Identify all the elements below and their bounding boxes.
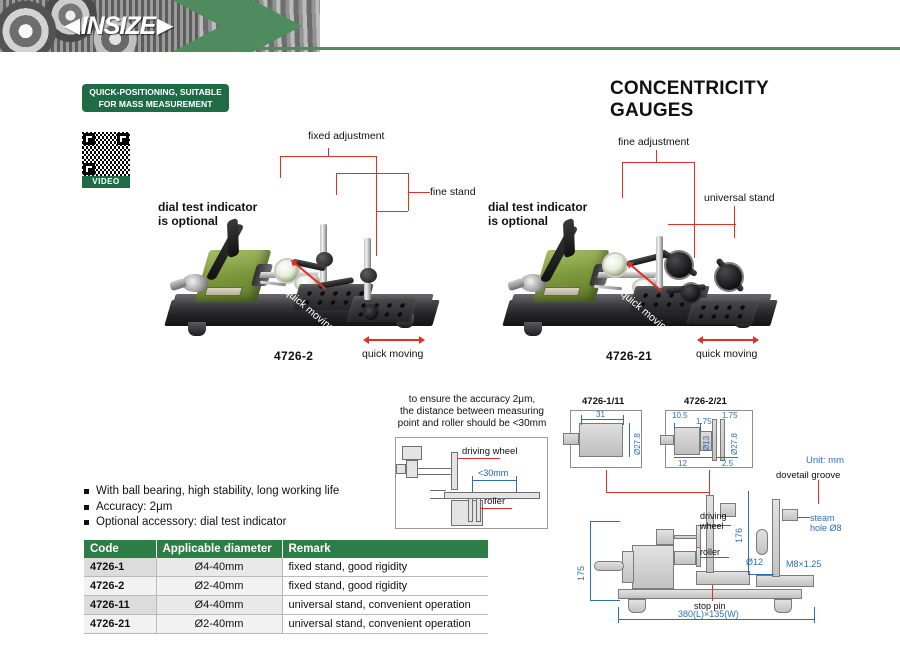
feature-item: With ball bearing, high stability, long … [84,484,414,500]
diag-dim-line-30mm [472,480,516,481]
dim-value-f: 12 [678,459,687,468]
md-label-driving-wheel-l2: wheel [700,521,727,531]
cell-remark: fixed stand, good rigidity [282,558,488,577]
machine-illustration-left [168,228,448,343]
feature-badge-line2: FOR MASS MEASUREMENT [89,98,222,110]
product-model-left: 4726-2 [274,349,313,363]
md-spindle-top [656,529,674,545]
accuracy-note-line2: the distance between measuring [392,406,552,418]
qr-eye-top-left [83,133,95,145]
unit-label: Unit: mm [806,455,844,466]
quick-moving-label-flat: quick moving [696,348,757,360]
diag-label-driving-wheel: driving wheel [462,446,517,457]
diag-roller-1 [468,498,473,522]
table-row: 4726-21 Ø2-40mm universal stand, conveni… [84,615,488,634]
qr-code-icon[interactable] [82,132,130,176]
cell-code: 4726-11 [84,596,156,615]
product-model-right: 4726-21 [606,349,652,363]
slide-block-2 [346,296,417,322]
cell-remark: universal stand, convenient operation [282,596,488,615]
callout-leader-v1 [328,148,329,156]
dim-value-a: 10.5 [672,411,688,420]
md-label-stop-pin: stop pin [694,601,726,611]
dim-tick-w1b [623,415,624,425]
clamp-arm-secondary [563,218,575,259]
slide-block-2 [686,298,759,324]
md-thread: M8×1.25 [786,559,821,569]
md-diameter: Ø12 [746,557,763,567]
product-photo-4726-2: dial test indicator is optional fixed ad… [140,120,500,370]
diag-spindle-body [406,460,418,478]
dim-value-e: Ø27.8 [730,433,739,455]
part-shaft-2 [660,435,674,445]
dim-drawing-1: 31 Ø27.8 [570,410,642,468]
cell-code: 4726-2 [84,577,156,596]
md-lead-steam-hole [798,517,810,518]
machine-dimension-drawing: 175 176 Ø12 M8×1.25 380(L)×135(W) drivin… [570,495,900,640]
cell-code: 4726-1 [84,558,156,577]
callout-leader-h3 [336,173,408,174]
callout-leader-h1 [280,156,376,157]
md-roller-block [674,551,696,565]
cell-code: 4726-21 [84,615,156,634]
cell-diameter: Ø4-40mm [156,596,282,615]
part-disc-2b [720,419,725,461]
md-foot-left [628,599,646,613]
table-row: 4726-2 Ø2-40mm fixed stand, good rigidit… [84,577,488,596]
qr-eye-top-right [117,133,129,145]
diag-dim-tick-left [472,476,473,492]
accuracy-note-line3: point and roller should be <30mm [392,418,552,430]
dim-tick-w1a [581,415,582,425]
md-center-slide [696,571,750,585]
diag-dim-tick-right [516,476,517,492]
callout-fixed-adjustment: fixed adjustment [308,130,384,142]
callout-leader-rh2 [668,224,736,225]
feature-badge: QUICK-POSITIONING, SUITABLE FOR MASS MEA… [82,84,229,112]
quick-moving-label-flat: quick moving [362,348,423,360]
md-base-plate [618,589,802,599]
headstock-nameplate [542,287,581,296]
md-headstock [632,545,674,589]
universal-knob-1 [666,252,692,278]
clamp-knob [364,306,378,320]
video-qr-block[interactable]: VIDEO [82,132,130,188]
md-dim-tick-175b [590,600,620,601]
md-height-left: 175 [576,566,586,581]
dim-value-dia-1: Ø27.8 [633,433,642,455]
md-label-roller: roller [700,547,720,557]
video-label: VIDEO [82,176,130,188]
table-row: 4726-11 Ø4-40mm universal stand, conveni… [84,596,488,615]
callout-leader-rv2 [622,162,623,198]
diag-roller-2 [476,498,481,522]
machine-foot-left [188,322,206,336]
dim-connector-h [606,492,710,493]
md-handle [594,561,624,571]
page-title: CONCENTRICITY GAUGES [610,78,850,122]
diag-lead-roller [480,508,512,509]
logo-left-arrow-icon: ◀ [64,16,78,36]
headstock-nameplate [204,287,243,296]
dim-drawing-2: 10.5 1.75 1.75 Ø13 Ø27.8 12 2.5 [665,410,753,468]
machine-illustration-right [506,228,786,343]
header-divider-rule [245,47,900,50]
callout-dial-indicator-left: dial test indicator is optional [158,200,257,228]
part-shaft-1 [563,433,579,445]
universal-knob-3 [682,284,700,302]
callout-leader-v2 [280,156,281,178]
diag-driving-wheel [451,452,458,490]
dim-connector-1 [606,470,607,492]
md-dim-tick-176 [748,574,774,575]
diag-spindle-left [396,464,406,474]
spindle-lever [507,278,525,292]
dim-value-width-1: 31 [596,410,605,419]
dim-line-width-1 [581,419,623,420]
feature-badge-line1: QUICK-POSITIONING, SUITABLE [89,86,222,98]
part-body-1 [579,423,623,457]
diag-label-roller: roller [484,496,505,507]
md-label-driving-wheel-l1: driving [700,511,727,521]
dim-tick-2b [700,423,701,431]
dim-line-dia-1 [629,423,630,457]
md-arm-right [782,509,798,521]
md-label-steam-hole-l2: hole Ø8 [810,523,842,533]
dim-value-b: 1.75 [696,417,712,426]
dim-drawing-title-1: 4726-1/11 [582,396,624,407]
callout-leader-v5 [336,173,337,195]
part-body-2 [674,427,700,455]
table-header-row: Code Applicable diameter Remark [84,540,488,558]
dim-value-g: 2.5 [722,459,733,468]
md-disc-right [756,529,768,555]
quick-moving-arrow-flat [368,339,420,341]
dim-line-2g [716,457,738,458]
features-list: With ball bearing, high stability, long … [84,484,414,531]
md-foot-right [774,599,792,613]
diag-lead-driving-wheel [458,458,500,459]
quick-moving-arrow-flat [702,339,754,341]
table-row: 4726-1 Ø4-40mm fixed stand, good rigidit… [84,558,488,577]
dim-tick-2a [674,423,675,429]
insize-logo: ◀ INSIZE ▶ [48,12,188,40]
cell-diameter: Ø2-40mm [156,577,282,596]
diag-label-30mm: <30mm [478,468,508,478]
callout-leader-h2 [408,192,430,193]
md-right-slide [756,575,814,587]
diag-tip-line2 [430,498,446,499]
part-disc-2a [712,419,717,461]
specification-table: Code Applicable diameter Remark 4726-1 Ø… [84,540,488,634]
md-dim-line-overall [618,619,814,620]
logo-right-arrow-icon: ▶ [157,16,171,36]
dim-line-2f [674,457,712,458]
stand-knob-2 [360,268,377,283]
md-dim-tick-175a [590,521,620,522]
product-photo-4726-21: dial test indicator is optional fine adj… [478,120,838,370]
clamp-arm-secondary [227,218,239,259]
callout-universal-stand: universal stand [704,192,775,204]
md-label-steam-hole-l1: steam [810,513,842,523]
dim-value-c: 1.75 [722,411,738,420]
qr-eye-bottom-left [83,163,95,175]
cell-remark: fixed stand, good rigidity [282,577,488,596]
universal-stand-post [656,236,663,288]
dovetail-groove-label: dovetail groove [776,470,840,481]
callout-fine-stand: fine stand [430,186,476,198]
dim-value-d: Ø13 [702,436,711,451]
diag-shaft-line-bottom [418,474,454,475]
diag-spindle-head [402,446,422,460]
callout-leader-v4 [408,173,409,211]
page-header: ◀ INSIZE ▶ [0,0,900,52]
table-header-code: Code [84,540,156,558]
diag-shaft-line-top [418,468,454,469]
callout-fine-adjustment: fine adjustment [618,136,689,148]
table-header-remark: Remark [282,540,488,558]
table-header-diameter: Applicable diameter [156,540,282,558]
accuracy-diagram: <30mm driving wheel roller [395,437,548,529]
accuracy-note-line1: to ensure the accuracy 2μm, [392,394,552,406]
accuracy-note-text: to ensure the accuracy 2μm, the distance… [392,394,552,430]
md-column-right [772,499,780,577]
md-lead-roller [701,557,729,558]
cell-remark: universal stand, convenient operation [282,615,488,634]
callout-leader-rh1 [622,162,694,163]
diag-tip-line [430,490,446,491]
feature-item: Accuracy: 2μm [84,500,414,516]
machine-foot-left [524,322,542,336]
logo-text: INSIZE [81,12,156,41]
callout-leader-h4 [376,211,408,212]
md-lead-stop-pin [712,585,713,601]
cell-diameter: Ø4-40mm [156,558,282,577]
md-height-right: 176 [734,528,744,543]
spindle-lever [169,278,187,292]
md-dim-line-175 [590,521,591,601]
feature-item: Optional accessory: dial test indicator [84,515,414,531]
universal-knob-2 [716,264,742,290]
md-dim-tick-ov1 [618,607,619,623]
md-column-center [706,495,714,573]
cell-diameter: Ø2-40mm [156,615,282,634]
md-label-driving-wheel: driving wheel [700,511,727,531]
callout-leader-rv1 [656,150,657,162]
md-label-steam-hole: steam hole Ø8 [810,513,842,533]
dim-drawing-title-2: 4726-2/21 [684,396,727,407]
md-dim-tick-ov2 [814,607,815,623]
